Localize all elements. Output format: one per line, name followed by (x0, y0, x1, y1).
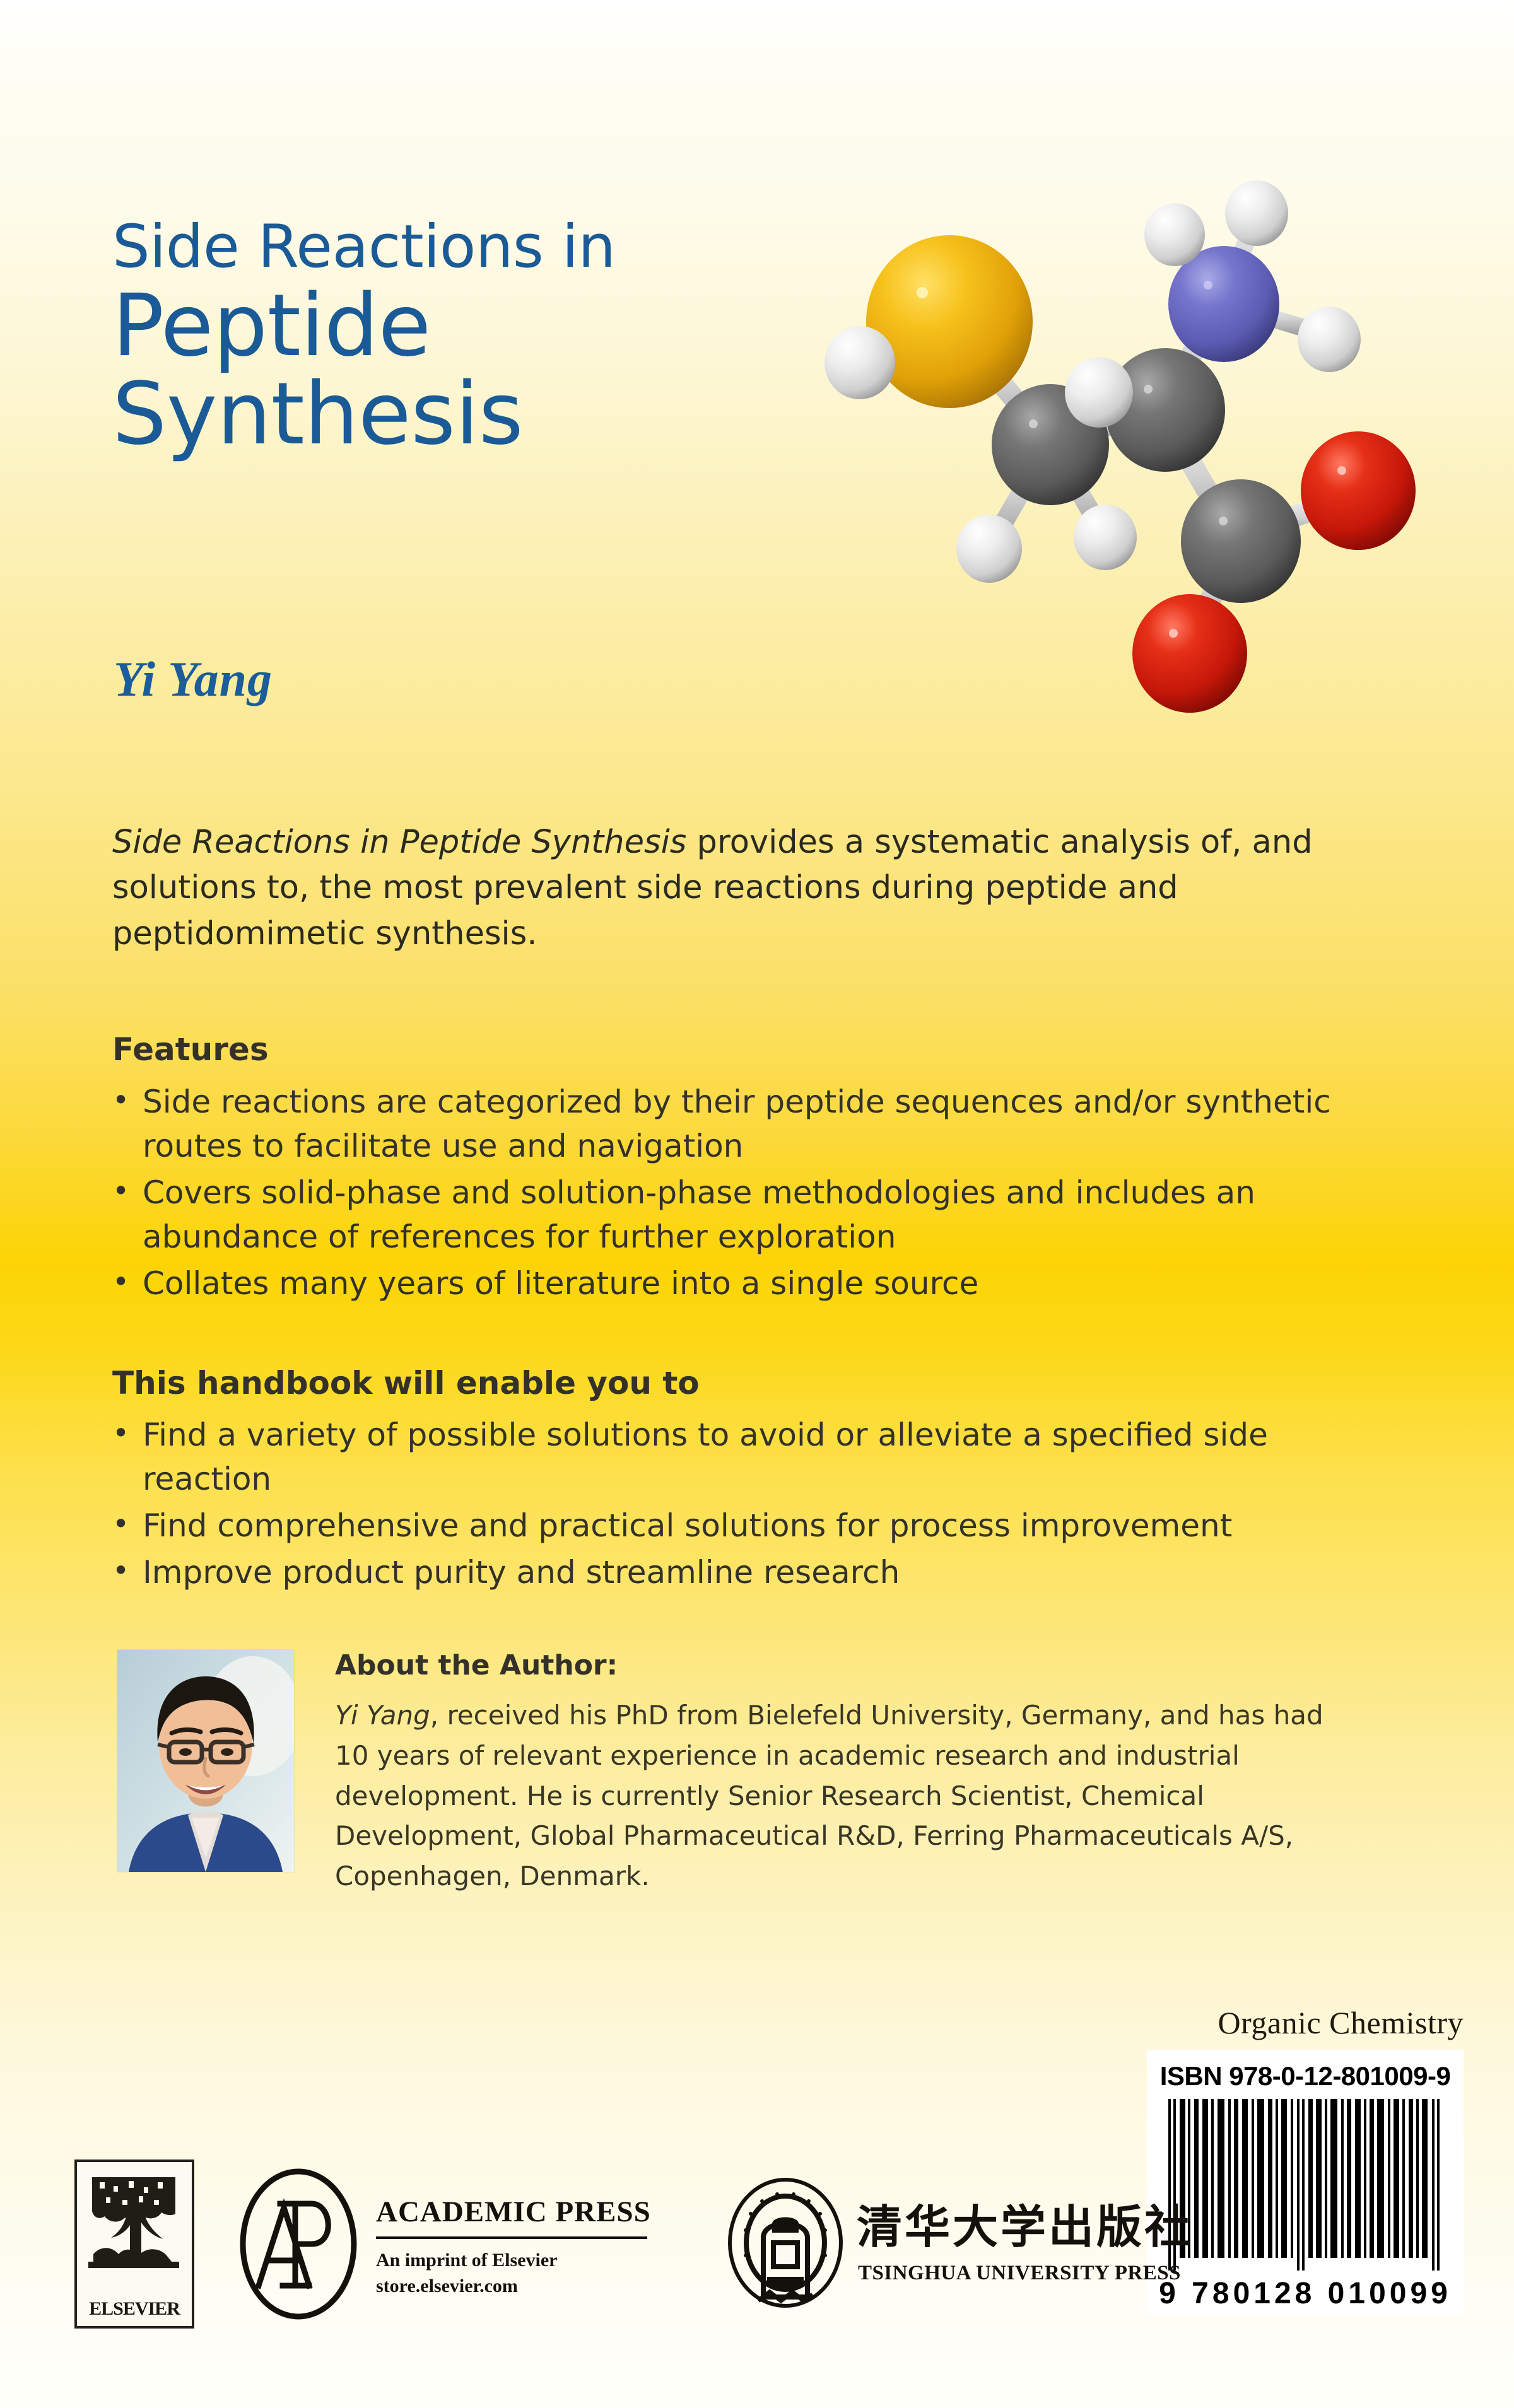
academic-press-rule (376, 2236, 647, 2239)
academic-press-name: ACADEMIC PRESS (376, 2195, 647, 2229)
handbook-list: • Find a variety of possible solutions t… (112, 1413, 1349, 1597)
about-author-name: Yi Yang (335, 1700, 430, 1731)
about-author-body: Yi Yang, received his PhD from Bielefeld… (335, 1695, 1344, 1897)
cysteine-molecule-graphic (792, 145, 1492, 751)
author-photo (117, 1650, 294, 1872)
title-line-3: Synthesis (112, 371, 819, 457)
subject-category-label: Organic Chemistry (1218, 2004, 1464, 2041)
about-author-text: About the Author: Yi Yang, received his … (335, 1645, 1344, 1897)
bullet-icon: • (112, 1550, 143, 1591)
publisher-logos: ELSEVIER ACADEMIC PRESS (0, 2144, 1135, 2352)
elsevier-tree-icon (83, 2167, 184, 2287)
book-back-cover: Side Reactions in Peptide Synthesis Yi Y… (0, 0, 1514, 2408)
academic-press-logo: ACADEMIC PRESS An imprint of Elsevier st… (238, 2168, 648, 2326)
list-item-text: Improve product purity and streamline re… (143, 1550, 1349, 1594)
list-item: • Covers solid-phase and solution-phase … (112, 1171, 1349, 1259)
list-item: • Collates many years of literature into… (112, 1261, 1349, 1306)
list-item: • Find a variety of possible solutions t… (112, 1413, 1349, 1501)
bullet-icon: • (112, 1413, 143, 1453)
academic-press-monogram-icon (238, 2168, 358, 2320)
ean-digits: 9 780128 010099 (1147, 2276, 1464, 2311)
elsevier-wordmark: ELSEVIER (77, 2298, 192, 2320)
title-line-1: Side Reactions in (112, 218, 819, 277)
list-item-text: Collates many years of literature into a… (143, 1261, 1349, 1306)
tsinghua-university-press-logo: 清华大学出版社 TSINGHUA UNIVERSITY PRESS (725, 2161, 1117, 2331)
elsevier-logo: ELSEVIER (74, 2160, 194, 2329)
list-item: • Find comprehensive and practical solut… (112, 1504, 1349, 1548)
blurb-title-italic: Side Reactions in Peptide Synthesis (112, 824, 686, 861)
academic-press-store-url: store.elsevier.com (376, 2274, 647, 2300)
tsinghua-english-name: TSINGHUA UNIVERSITY PRESS (858, 2262, 1181, 2285)
features-heading: Features (112, 1031, 269, 1068)
list-item: • Improve product purity and streamline … (112, 1550, 1349, 1594)
book-title: Side Reactions in Peptide Synthesis (112, 218, 819, 460)
list-item-text: Side reactions are categorized by their … (143, 1080, 1349, 1168)
about-author-bio: , received his PhD from Bielefeld Univer… (335, 1700, 1323, 1891)
barcode-bars (1167, 2099, 1443, 2271)
academic-press-text: ACADEMIC PRESS An imprint of Elsevier st… (376, 2195, 647, 2299)
bullet-icon: • (112, 1080, 143, 1120)
about-author-heading: About the Author: (335, 1645, 1344, 1687)
author-name: Yi Yang (114, 651, 273, 708)
bullet-icon: • (112, 1171, 143, 1211)
list-item-text: Find comprehensive and practical solutio… (143, 1504, 1349, 1548)
list-item-text: Covers solid-phase and solution-phase me… (143, 1171, 1349, 1259)
handbook-heading: This handbook will enable you to (112, 1365, 700, 1401)
tsinghua-chinese-name: 清华大学出版社 (857, 2190, 1192, 2256)
list-item-text: Find a variety of possible solutions to … (143, 1413, 1349, 1501)
title-line-2: Peptide (112, 283, 819, 369)
features-list: • Side reactions are categorized by thei… (112, 1080, 1349, 1308)
bullet-icon: • (112, 1504, 143, 1544)
academic-press-imprint: An imprint of Elsevier (376, 2248, 647, 2274)
bullet-icon: • (112, 1261, 143, 1302)
book-blurb: Side Reactions in Peptide Synthesis prov… (112, 820, 1336, 957)
isbn-barcode: ISBN 978-0-12-801009-9 (1147, 2050, 1464, 2315)
tsinghua-seal-icon (725, 2177, 845, 2308)
isbn-number: ISBN 978-0-12-801009-9 (1147, 2061, 1464, 2091)
list-item: • Side reactions are categorized by thei… (112, 1080, 1349, 1168)
